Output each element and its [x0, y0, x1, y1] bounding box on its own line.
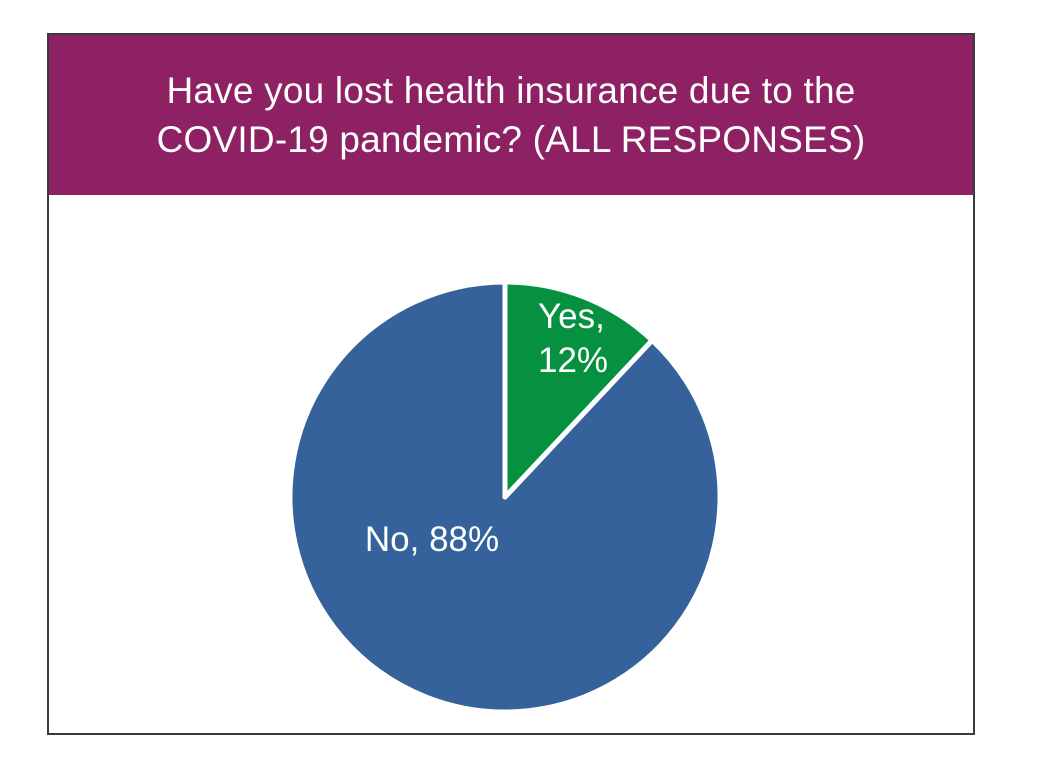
chart-title: Have you lost health insurance due to th… — [117, 66, 906, 164]
pie-chart-svg — [49, 195, 973, 733]
chart-plot-area: Yes, 12% No, 88% — [49, 195, 973, 733]
pie-chart: Yes, 12% No, 88% — [49, 195, 973, 733]
chart-card: Have you lost health insurance due to th… — [47, 33, 975, 735]
slide-canvas: Have you lost health insurance due to th… — [0, 0, 1043, 780]
chart-title-band: Have you lost health insurance due to th… — [49, 35, 973, 195]
